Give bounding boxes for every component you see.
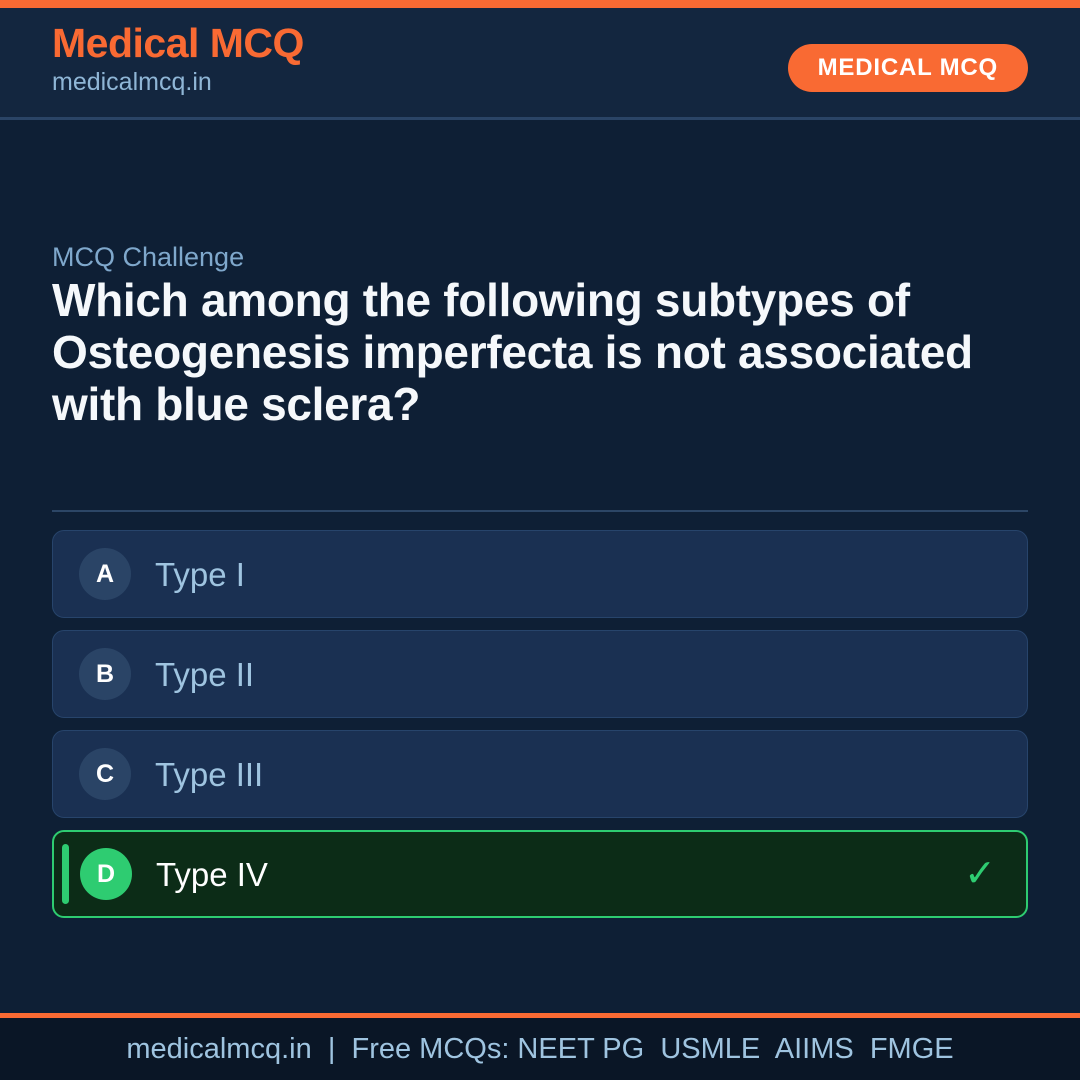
- option-letter-badge-a: A: [79, 548, 131, 600]
- checkmark-icon-d: ✓: [964, 855, 996, 893]
- option-label-c: Type III: [155, 758, 263, 791]
- option-label-a: Type I: [155, 558, 245, 591]
- top-accent-strip: [0, 0, 1080, 8]
- eyebrow-label: MCQ Challenge: [52, 244, 244, 271]
- option-row-a[interactable]: A Type I: [52, 530, 1028, 618]
- option-letter-badge-d: D: [80, 848, 132, 900]
- option-label-b: Type II: [155, 658, 254, 691]
- option-letter-badge-b: B: [79, 648, 131, 700]
- options-list: A Type I B Type II C Type III D Type IV …: [52, 530, 1028, 930]
- option-label-d: Type IV: [156, 858, 268, 891]
- brand-subtitle: medicalmcq.in: [52, 67, 304, 98]
- footer-text: medicalmcq.in | Free MCQs: NEET PG USMLE…: [126, 1035, 953, 1064]
- correct-accent-bar: [62, 844, 69, 904]
- brand: Medical MCQ medicalmcq.in: [52, 22, 304, 98]
- option-letter-badge-c: C: [79, 748, 131, 800]
- option-row-c[interactable]: C Type III: [52, 730, 1028, 818]
- page-header: Medical MCQ medicalmcq.in MEDICAL MCQ: [0, 8, 1080, 120]
- main-content: MCQ Challenge Which among the following …: [0, 120, 1080, 1013]
- option-row-d[interactable]: D Type IV ✓: [52, 830, 1028, 918]
- section-divider: [52, 510, 1028, 512]
- brand-title: Medical MCQ: [52, 22, 304, 65]
- page-footer: medicalmcq.in | Free MCQs: NEET PG USMLE…: [0, 1013, 1080, 1080]
- question-text: Which among the following subtypes of Os…: [52, 275, 1032, 431]
- option-row-b[interactable]: B Type II: [52, 630, 1028, 718]
- header-badge: MEDICAL MCQ: [788, 44, 1028, 92]
